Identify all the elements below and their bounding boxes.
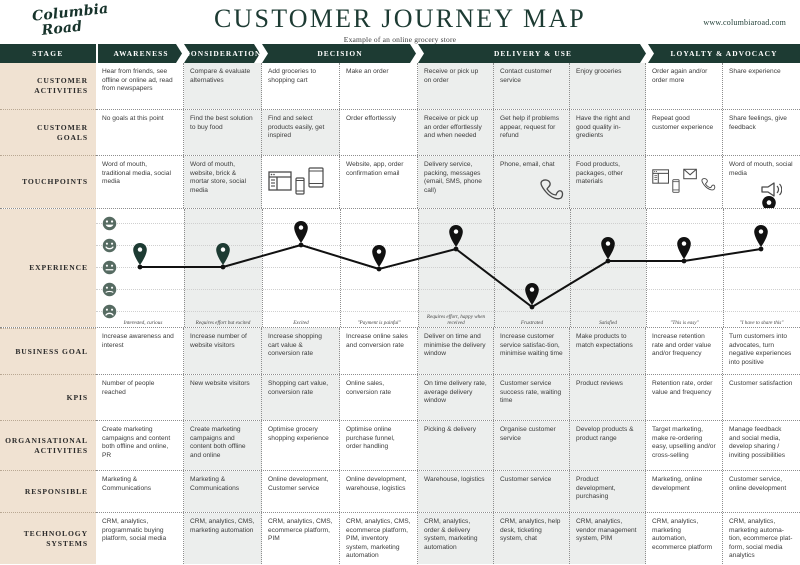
stage-header-stage: STAGE xyxy=(0,44,96,63)
table-cell: Create marketing campaigns and content b… xyxy=(96,421,184,470)
table-cell: Product reviews xyxy=(570,375,646,420)
table-cell: CRM, analytics, programmatic buying plat… xyxy=(96,513,184,564)
experience-caption: Frustrated xyxy=(494,320,570,326)
table-cell: Compare & evaluate alternatives xyxy=(184,63,262,109)
row-label-responsible: RESPONSIBLE xyxy=(0,470,96,512)
table-cell: Get help if problems appear, request for… xyxy=(494,110,570,155)
row-label-customer-activities: CUSTOMER ACTIVITIES xyxy=(0,63,96,109)
map-pin-marker xyxy=(216,243,230,265)
table-cell: Make products to match expectations xyxy=(570,328,646,374)
data-point xyxy=(682,259,687,264)
row-label-text: BUSINESS GOAL xyxy=(15,347,88,357)
map-pin-marker xyxy=(601,237,615,259)
page-subtitle: Example of an online grocery store xyxy=(0,35,800,44)
table-cell: Increase customer service satisfac-tion,… xyxy=(494,328,570,374)
map-pin-marker xyxy=(754,225,768,247)
table-cell: Hear from friends, see offline or online… xyxy=(96,63,184,109)
row-label-text: KPIs xyxy=(67,393,88,403)
table-cell: Customer service xyxy=(494,471,570,512)
touchpoint-icon-group xyxy=(652,167,716,195)
stage-label: STAGE xyxy=(32,49,64,58)
map-pin-marker xyxy=(677,237,691,259)
table-cell: Optimise online purchase funnel, order h… xyxy=(340,421,418,470)
mobile-phone-icon xyxy=(672,177,680,195)
row-label-touchpoints: TOUCHPOINTS xyxy=(0,155,96,208)
table-cell: Have the right and good quality in-gredi… xyxy=(570,110,646,155)
table-cell: Online development, Customer service xyxy=(262,471,340,512)
table-cell: Receive or pick up on order xyxy=(418,63,494,109)
row-label-business-goal: BUSINESS GOAL xyxy=(0,328,96,374)
row-cells: Hear from friends, see offline or online… xyxy=(96,63,800,109)
table-cell: Word of mouth, traditional media, social… xyxy=(96,156,184,208)
table-cell: Repeat good customer experience xyxy=(646,110,723,155)
table-cell: Marketing, online development xyxy=(646,471,723,512)
row-label-line-2: ACTIVITIES xyxy=(34,86,88,95)
phone-handset-icon xyxy=(700,175,716,193)
row-label-kpis: KPIs xyxy=(0,374,96,420)
row-technology-systems: TECHNOLOGY SYSTEMS CRM, analytics, progr… xyxy=(0,512,800,564)
table-cell-with-icon: Phone, email, chat xyxy=(494,156,570,208)
table-cell: Develop products & product range xyxy=(570,421,646,470)
table-cell: Increase retention rate and order value … xyxy=(646,328,723,374)
row-cells: Word of mouth, traditional media, social… xyxy=(96,155,800,208)
stage-header-loyalty-advocacy[interactable]: LOYALTY & ADVOCACY xyxy=(648,44,800,63)
experience-caption: "Payment is painful" xyxy=(340,320,418,326)
row-label-line-1: CUSTOMER xyxy=(37,76,88,85)
row-label-line-2: SYSTEMS xyxy=(46,539,88,548)
browser-window-icon xyxy=(652,167,669,186)
experience-caption: "This is easy" xyxy=(646,320,723,326)
experience-caption: Excited xyxy=(262,320,340,326)
stage-header-delivery-use[interactable]: DELIVERY & USE xyxy=(418,44,648,63)
table-cell: Target marketing, make re-ordering easy,… xyxy=(646,421,723,470)
journey-grid: CUSTOMER ACTIVITIES Hear from friends, s… xyxy=(0,63,800,564)
table-cell: Add groceries to shopping cart xyxy=(262,63,340,109)
data-point xyxy=(606,259,611,264)
table-cell: Marketing & Communications xyxy=(96,471,184,512)
row-label-line-1: CUSTOMER xyxy=(37,123,88,132)
stage-header-decision[interactable]: DECISION xyxy=(262,44,418,63)
experience-caption: Interested, curious xyxy=(102,320,184,326)
table-cell: Order effortlessly xyxy=(340,110,418,155)
table-cell: CRM, analytics, CMS, ecommerce platform,… xyxy=(340,513,418,564)
stage-label: CONSIDERATION xyxy=(185,49,262,58)
table-cell: Organise customer service xyxy=(494,421,570,470)
header: Columbia Road CUSTOMER JOURNEY MAP Examp… xyxy=(0,0,800,44)
table-cell: Share feelings, give feedback xyxy=(723,110,800,155)
table-cell-with-icon: Word of mouth, social media xyxy=(723,156,800,208)
experience-polyline xyxy=(140,245,761,307)
experience-caption: Requires effort, happy when received xyxy=(418,314,494,326)
table-cell: Online development, warehouse, logistics xyxy=(340,471,418,512)
row-label-text: TOUCHPOINTS xyxy=(22,177,88,187)
table-cell: Warehouse, logistics xyxy=(418,471,494,512)
title-block: CUSTOMER JOURNEY MAP Example of an onlin… xyxy=(0,4,800,44)
map-pin-marker xyxy=(294,221,308,243)
stage-label: DELIVERY & USE xyxy=(494,49,572,58)
row-experience: EXPERIENCE xyxy=(0,208,800,327)
table-cell: New website visitors xyxy=(184,375,262,420)
table-cell: Website, app, order confirmation email xyxy=(340,156,418,208)
experience-chart: Interested, curious Requires effort but … xyxy=(96,209,800,327)
row-label-line-2: ACTIVITIES xyxy=(34,446,88,455)
table-cell: CRM, analytics, marketing automa-tion, e… xyxy=(723,513,800,564)
stage-header-consideration[interactable]: CONSIDERATION xyxy=(184,44,262,63)
table-cell: Create marketing campaigns and content b… xyxy=(184,421,262,470)
table-cell: No goals at this point xyxy=(96,110,184,155)
table-cell: CRM, analytics, marketing automation, ec… xyxy=(646,513,723,564)
table-cell: Find the best solution to buy food xyxy=(184,110,262,155)
row-label-line-2: GOALS xyxy=(57,133,88,142)
stage-label: AWARENESS xyxy=(113,49,168,58)
table-cell: Online sales, conversion rate xyxy=(340,375,418,420)
row-touchpoints: TOUCHPOINTS Word of mouth, traditional m… xyxy=(0,155,800,208)
stage-label: LOYALTY & ADVOCACY xyxy=(670,49,777,58)
envelope-icon xyxy=(683,167,697,181)
customer-journey-map: Columbia Road CUSTOMER JOURNEY MAP Examp… xyxy=(0,0,800,565)
row-label-experience: EXPERIENCE xyxy=(0,209,96,327)
phone-handset-icon xyxy=(538,178,564,200)
table-cell: Shopping cart value, conversion rate xyxy=(262,375,340,420)
stage-ribbon: STAGE AWARENESS CONSIDERATION DECISION D… xyxy=(0,44,800,63)
table-cell: Increase awareness and interest xyxy=(96,328,184,374)
map-pin-marker xyxy=(133,243,147,265)
table-cell: Increase shopping cart value & conversio… xyxy=(262,328,340,374)
website-url: www.columbiaroad.com xyxy=(703,18,786,27)
table-cell: Optimise grocery shopping experience xyxy=(262,421,340,470)
touchpoint-text: Word of mouth, social media xyxy=(729,161,794,178)
row-cells: Create marketing campaigns and content b… xyxy=(96,420,800,470)
table-cell: Deliver on time and minimise the deliver… xyxy=(418,328,494,374)
data-point xyxy=(454,247,459,252)
table-cell: CRM, analytics, CMS, marketing automatio… xyxy=(184,513,262,564)
table-cell: Customer service success rate, waiting t… xyxy=(494,375,570,420)
row-cells: Increase awareness and interest Increase… xyxy=(96,328,800,374)
row-responsible: RESPONSIBLE Marketing & Communications M… xyxy=(0,470,800,512)
table-cell: Enjoy groceries xyxy=(570,63,646,109)
data-point xyxy=(759,247,764,252)
data-point xyxy=(377,267,382,272)
table-cell: CRM, analytics, CMS, ecommerce platform,… xyxy=(262,513,340,564)
row-label-technology-systems: TECHNOLOGY SYSTEMS xyxy=(0,512,96,564)
map-pin-marker xyxy=(372,245,386,267)
table-cell: Share experience xyxy=(723,63,800,109)
table-cell: Picking & delivery xyxy=(418,421,494,470)
experience-caption: Satisfied xyxy=(570,320,646,326)
table-cell: Customer satisfaction xyxy=(723,375,800,420)
page-title: CUSTOMER JOURNEY MAP xyxy=(0,4,800,34)
table-cell-icons xyxy=(262,156,340,208)
row-cells: CRM, analytics, programmatic buying plat… xyxy=(96,512,800,564)
row-label-text: RESPONSIBLE xyxy=(25,487,88,497)
data-point xyxy=(530,305,535,310)
row-business-goal: BUSINESS GOAL Increase awareness and int… xyxy=(0,327,800,374)
table-cell: Order again and/or order more xyxy=(646,63,723,109)
table-cell: Food products, packages, other materials xyxy=(570,156,646,208)
table-cell: Increase number of website visitors xyxy=(184,328,262,374)
table-cell: Contact customer service xyxy=(494,63,570,109)
table-cell: Number of people reached xyxy=(96,375,184,420)
data-point xyxy=(299,243,304,248)
table-cell: Manage feedback and social media, develo… xyxy=(723,421,800,470)
table-cell: CRM, analytics, vendor management system… xyxy=(570,513,646,564)
row-label-organisational-activities: ORGANISATIONAL ACTIVITIES xyxy=(0,420,96,470)
table-cell: On time delivery rate, average delivery … xyxy=(418,375,494,420)
row-kpis: KPIs Number of people reached New websit… xyxy=(0,374,800,420)
table-cell: Product development, purchasing xyxy=(570,471,646,512)
map-pin-icon xyxy=(762,196,776,208)
experience-caption: "I have to share this" xyxy=(723,320,800,326)
stage-label: DECISION xyxy=(317,49,362,58)
experience-line-chart xyxy=(96,209,800,327)
table-cell: Turn customers into advocates, turn nega… xyxy=(723,328,800,374)
tablet-icon xyxy=(308,167,324,188)
row-label-line-1: TECHNOLOGY xyxy=(24,529,88,538)
table-cell: Delivery service, packing, messages (ema… xyxy=(418,156,494,208)
row-customer-activities: CUSTOMER ACTIVITIES Hear from friends, s… xyxy=(0,63,800,109)
table-cell-icons xyxy=(646,156,723,208)
table-cell: Find and select products easily, get ins… xyxy=(262,110,340,155)
touchpoint-text: Phone, email, chat xyxy=(500,161,563,170)
map-pin-marker xyxy=(449,225,463,247)
mobile-phone-icon xyxy=(295,177,305,195)
browser-window-icon xyxy=(268,171,292,191)
table-cell: CRM, analytics, help desk, ticketing sys… xyxy=(494,513,570,564)
row-label-text: EXPERIENCE xyxy=(29,263,88,273)
row-cells: Marketing & Communications Marketing & C… xyxy=(96,470,800,512)
map-pin-marker xyxy=(525,283,539,305)
table-cell: Retention rate, order value and frequenc… xyxy=(646,375,723,420)
data-point xyxy=(221,265,226,270)
table-cell: Customer service, online development xyxy=(723,471,800,512)
experience-caption: Requires effort but excited xyxy=(184,320,262,326)
stage-header-awareness[interactable]: AWARENESS xyxy=(98,44,184,63)
row-organisational-activities: ORGANISATIONAL ACTIVITIES Create marketi… xyxy=(0,420,800,470)
table-cell: Receive or pick up an order effortlessly… xyxy=(418,110,494,155)
table-cell: Make an order xyxy=(340,63,418,109)
row-cells: No goals at this point Find the best sol… xyxy=(96,109,800,155)
touchpoint-icon-group xyxy=(268,167,333,191)
table-cell: CRM, analytics, order & delivery system,… xyxy=(418,513,494,564)
row-label-line-1: ORGANISATIONAL xyxy=(5,436,88,445)
row-label-customer-goals: CUSTOMER GOALS xyxy=(0,109,96,155)
row-customer-goals: CUSTOMER GOALS No goals at this point Fi… xyxy=(0,109,800,155)
table-cell: Marketing & Communications xyxy=(184,471,262,512)
table-cell: Word of mouth, website, brick & mortar s… xyxy=(184,156,262,208)
table-cell: Increase online sales and conversion rat… xyxy=(340,328,418,374)
row-cells: Number of people reached New website vis… xyxy=(96,374,800,420)
data-point xyxy=(138,265,143,270)
